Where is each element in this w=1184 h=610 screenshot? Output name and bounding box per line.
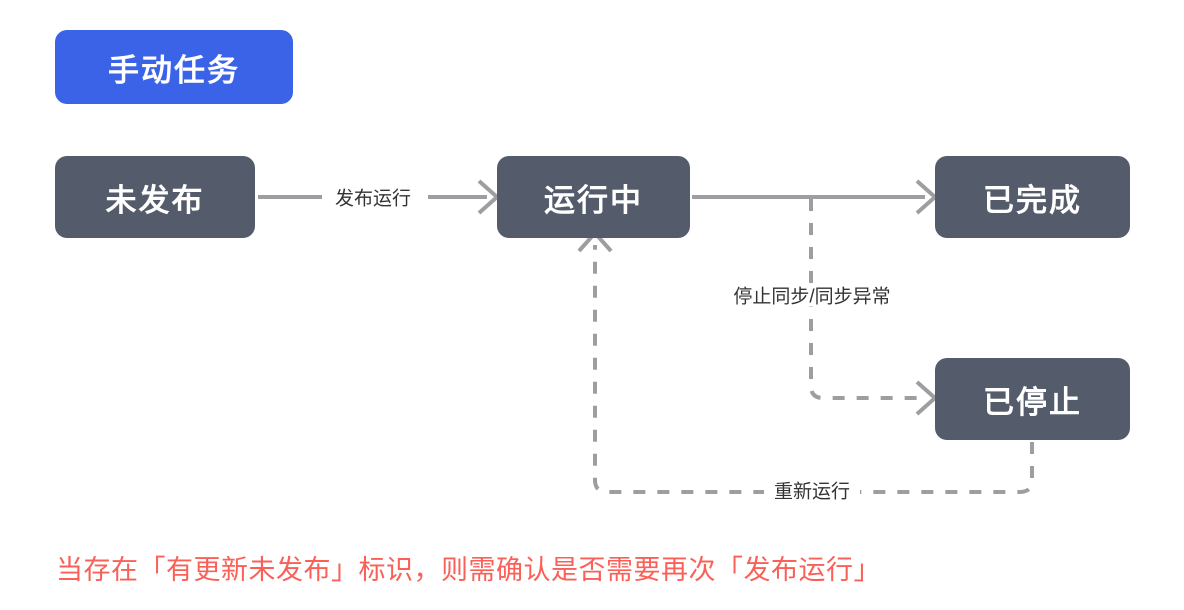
- state-node-running: 运行中: [497, 156, 690, 238]
- state-node-unpublished: 未发布: [55, 156, 255, 238]
- arrowhead-icon: [479, 181, 497, 213]
- arrowhead-icon: [917, 181, 935, 213]
- state-node-completed-label: 已完成: [983, 175, 1082, 220]
- edge-label-publish: 发布运行: [328, 190, 418, 209]
- state-node-completed: 已完成: [935, 156, 1130, 238]
- state-node-stopped-label: 已停止: [983, 377, 1082, 422]
- manual-task-badge-label: 手动任务: [108, 45, 240, 90]
- manual-task-badge: 手动任务: [55, 30, 293, 104]
- state-node-running-label: 运行中: [544, 175, 643, 220]
- edge-run-completed: [692, 181, 935, 213]
- state-node-unpublished-label: 未发布: [106, 175, 205, 220]
- edge-label-stop-sync: 停止同步/同步异常: [723, 288, 900, 307]
- edge-label-rerun: 重新运行: [764, 483, 860, 502]
- diagram-canvas: 手动任务 未发布 运行中 已完成 已停止 发布运行 停止同步/同步异常 重新运行…: [0, 0, 1184, 610]
- arrowhead-icon: [917, 382, 935, 414]
- state-node-stopped: 已停止: [935, 358, 1130, 440]
- footnote-text: 当存在「有更新未发布」标识，则需确认是否需要再次「发布运行」: [56, 548, 881, 587]
